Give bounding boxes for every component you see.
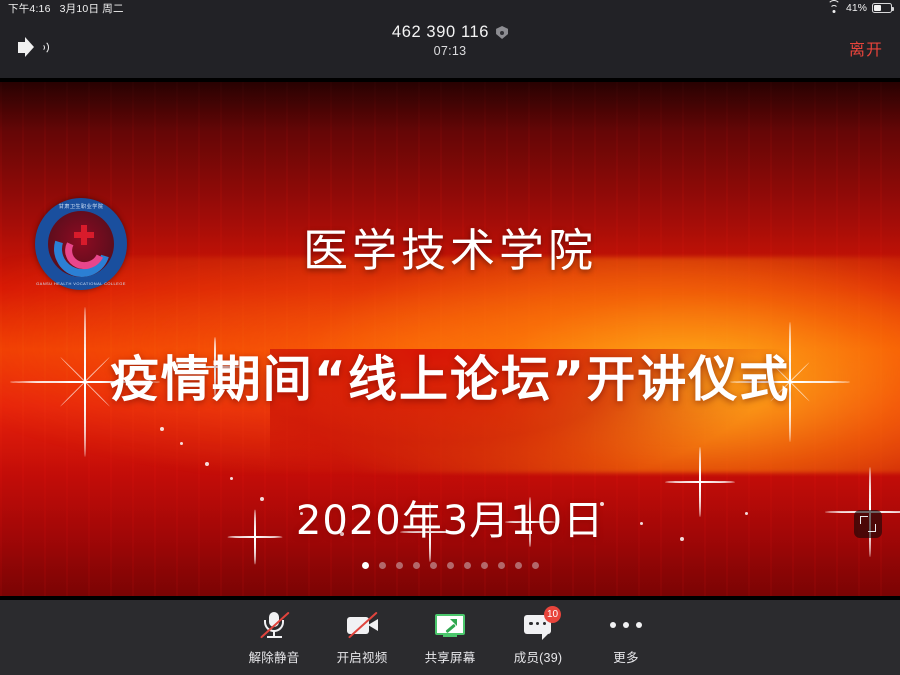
meeting-toolbar: 解除静音 开启视频 共享屏幕 10 成员(39) <box>0 600 900 675</box>
meeting-id: 462 390 116 <box>392 23 489 42</box>
more-button[interactable]: 更多 <box>582 610 670 666</box>
start-video-label: 开启视频 <box>337 647 388 666</box>
slide-headline: 疫情期间“线上论坛”开讲仪式 <box>0 340 900 411</box>
page-indicator[interactable] <box>0 562 900 569</box>
page-dot[interactable] <box>430 562 437 569</box>
leave-button[interactable]: 离开 <box>849 36 883 60</box>
camera-off-icon <box>344 610 380 640</box>
meeting-timer: 07:13 <box>434 44 467 58</box>
page-dot[interactable] <box>532 562 539 569</box>
participants-button[interactable]: 10 成员(39) <box>494 610 582 666</box>
unmute-label: 解除静音 <box>249 647 300 666</box>
meeting-id-row: 462 390 116 <box>392 23 508 42</box>
slide-date: 2020年3月10日 <box>0 488 900 546</box>
presentation-slide[interactable]: 甘肃卫生职业学院 GANSU HEALTH VOCATIONAL COLLEGE… <box>0 82 900 596</box>
page-dot[interactable] <box>362 562 369 569</box>
status-date: 3月10日 周二 <box>60 1 124 16</box>
battery-percent-label: 41% <box>846 2 867 14</box>
microphone-muted-icon <box>256 610 292 640</box>
shield-icon <box>496 26 508 39</box>
page-dot[interactable] <box>396 562 403 569</box>
page-dot[interactable] <box>481 562 488 569</box>
start-video-button[interactable]: 开启视频 <box>318 610 406 666</box>
share-screen-icon <box>432 610 468 640</box>
page-dot[interactable] <box>447 562 454 569</box>
zoom-meeting-screen: 下午4:16 3月10日 周二 41% 462 390 116 07:13 离开 <box>0 0 900 675</box>
wifi-icon <box>828 3 841 13</box>
participants-icon: 10 <box>520 610 556 640</box>
status-bar: 下午4:16 3月10日 周二 41% <box>0 0 900 16</box>
emblem-text-top: 甘肃卫生职业学院 <box>35 203 127 210</box>
sparkle-dot <box>180 442 183 445</box>
sparkle-dot <box>230 477 233 480</box>
more-label: 更多 <box>613 647 638 666</box>
page-dot[interactable] <box>498 562 505 569</box>
meeting-nav-bar: 462 390 116 07:13 离开 <box>0 16 900 78</box>
shared-content-stage[interactable]: 甘肃卫生职业学院 GANSU HEALTH VOCATIONAL COLLEGE… <box>0 78 900 600</box>
page-dot[interactable] <box>413 562 420 569</box>
unmute-button[interactable]: 解除静音 <box>230 610 318 666</box>
share-screen-label: 共享屏幕 <box>425 647 476 666</box>
status-bar-left: 下午4:16 3月10日 周二 <box>8 1 124 16</box>
exit-fullscreen-icon[interactable] <box>854 510 882 538</box>
sparkle-dot <box>205 462 209 466</box>
sparkle-dot <box>160 427 164 431</box>
share-screen-button[interactable]: 共享屏幕 <box>406 610 494 666</box>
meeting-info: 462 390 116 07:13 <box>0 23 900 58</box>
slide-title: 医学技术学院 <box>0 214 900 279</box>
participants-label: 成员(39) <box>514 647 562 666</box>
page-dot[interactable] <box>379 562 386 569</box>
status-time: 下午4:16 <box>8 1 51 16</box>
page-dot[interactable] <box>464 562 471 569</box>
participants-badge: 10 <box>544 606 561 623</box>
status-bar-right: 41% <box>828 2 892 14</box>
battery-icon <box>872 3 892 13</box>
more-ellipsis-icon <box>608 610 644 640</box>
emblem-text-bottom: GANSU HEALTH VOCATIONAL COLLEGE <box>35 281 127 286</box>
page-dot[interactable] <box>515 562 522 569</box>
